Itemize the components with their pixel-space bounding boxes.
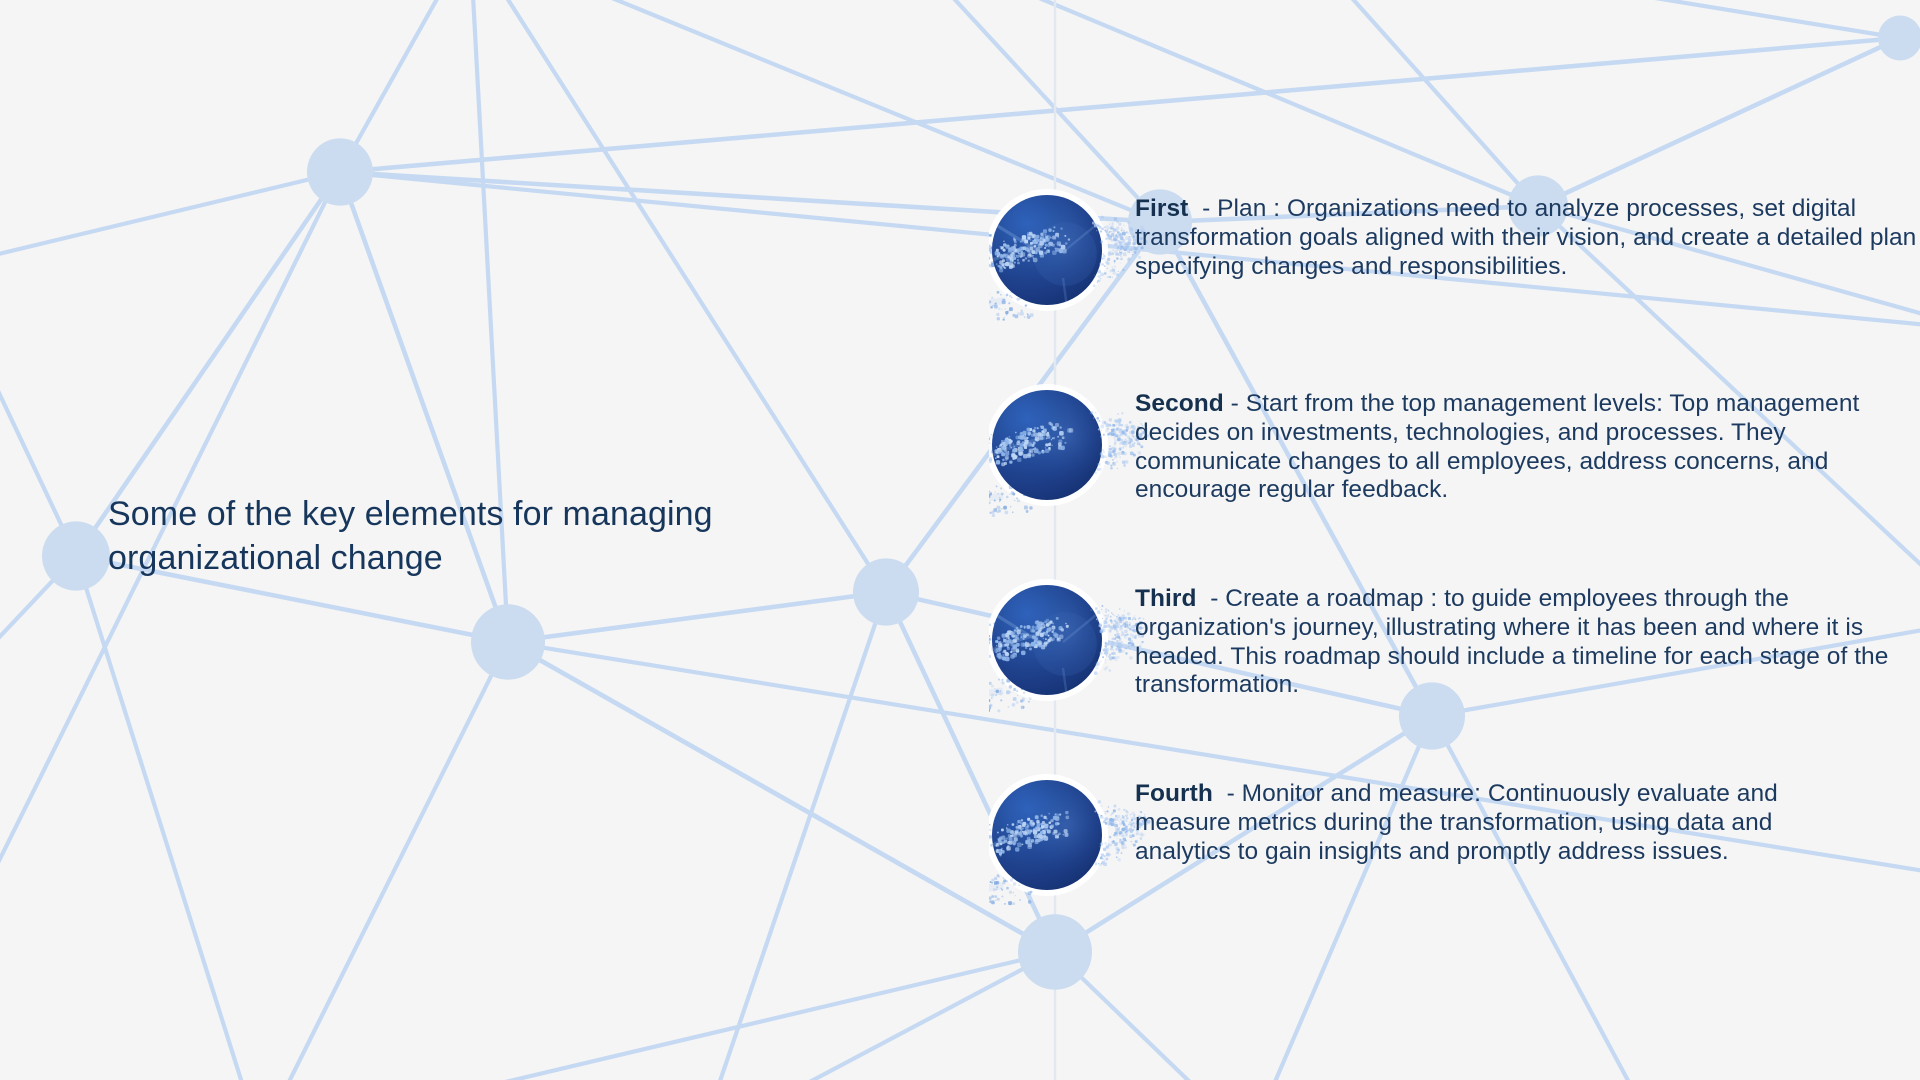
- step-sep-second: [1224, 390, 1231, 417]
- step-text-first: First - Plan : Organizations need to ana…: [1135, 195, 1920, 281]
- step-text-third: Third - Create a roadmap : to guide empl…: [1135, 585, 1920, 700]
- page-title: Some of the key elements for managing or…: [108, 492, 868, 580]
- step-dash-first: -: [1202, 195, 1210, 222]
- step-label-fourth: Fourth: [1135, 780, 1213, 807]
- step-dash-second: -: [1231, 390, 1239, 417]
- step-label-third: Third: [1135, 585, 1197, 612]
- step-body-first: Plan : Organizations need to analyze pro…: [1135, 195, 1916, 280]
- slide-canvas: Some of the key elements for managing or…: [0, 0, 1920, 1080]
- step-sep-first: [1188, 195, 1202, 222]
- orb-planet: [989, 195, 1117, 322]
- step-body-third: Create a roadmap : to guide employees th…: [1135, 585, 1888, 698]
- step-text-second: Second - Start from the top management l…: [1135, 390, 1920, 505]
- step-sep-fourth: [1213, 780, 1227, 807]
- step-body-second: Start from the top management levels: To…: [1135, 390, 1859, 503]
- step-sep-third: [1197, 585, 1211, 612]
- step-label-first: First: [1135, 195, 1188, 222]
- step-dash-fourth: -: [1227, 780, 1235, 807]
- step-dash-third: -: [1210, 585, 1218, 612]
- step-text-fourth: Fourth - Monitor and measure: Continuous…: [1135, 780, 1875, 866]
- content-layer: Some of the key elements for managing or…: [0, 0, 1920, 1080]
- step-label-second: Second: [1135, 390, 1224, 417]
